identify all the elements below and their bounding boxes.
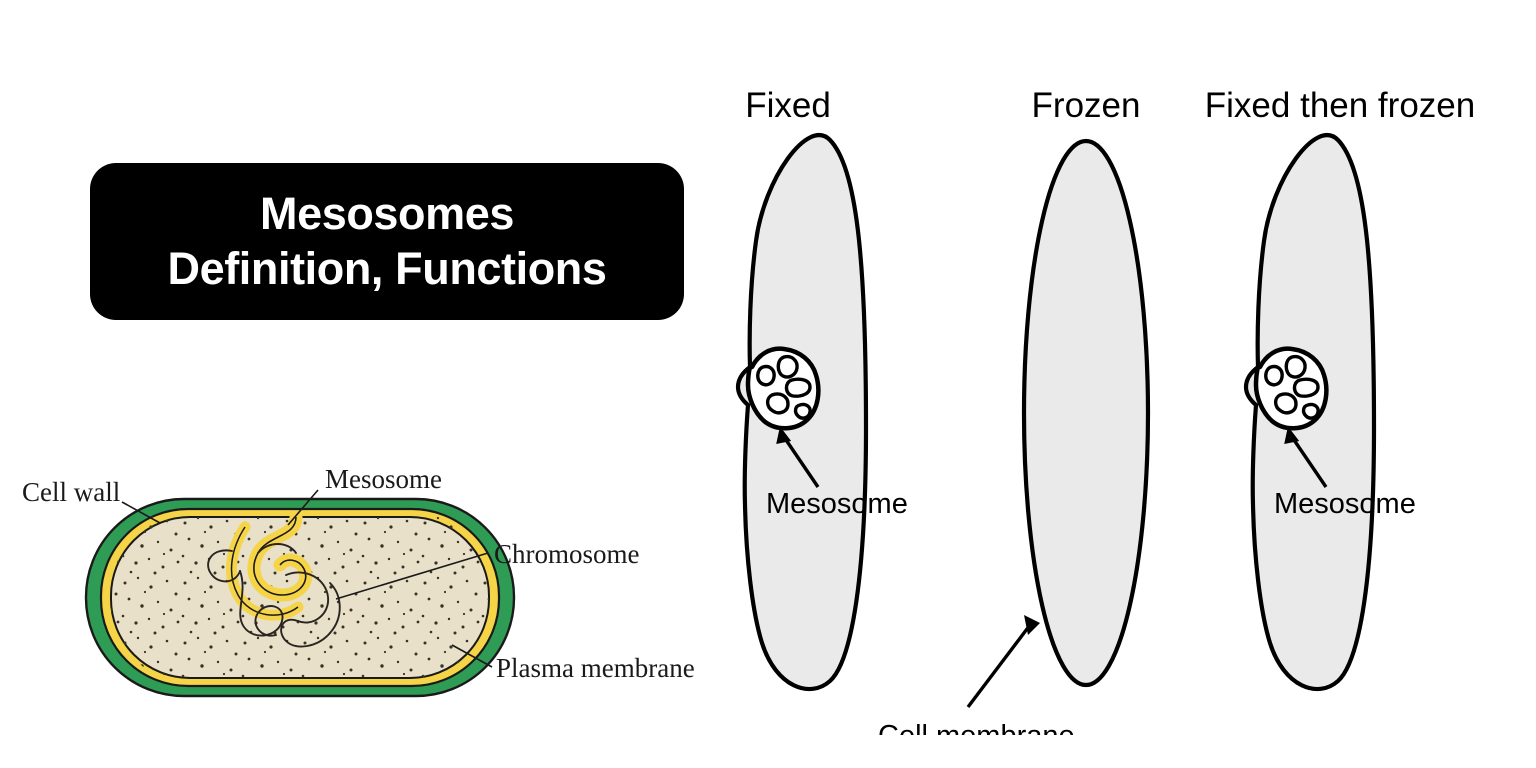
vesicle bbox=[778, 357, 797, 377]
cytoplasm-shape bbox=[111, 517, 489, 678]
vesicle bbox=[1286, 357, 1305, 377]
label-mesosome: Mesosome bbox=[325, 464, 442, 494]
label-mesosome-fixed-then-frozen: Mesosome bbox=[1274, 488, 1416, 520]
heading-fixed-then-frozen: Fixed then frozen bbox=[1205, 86, 1475, 125]
heading-frozen: Frozen bbox=[1032, 86, 1141, 125]
title-line-2: Definition, Functions bbox=[167, 242, 606, 297]
label-plasma-membrane: Plasma membrane bbox=[496, 653, 695, 683]
label-cell-membrane: Cell membrane bbox=[878, 720, 1075, 735]
title-line-1: Mesosomes bbox=[260, 187, 514, 242]
vesicle bbox=[768, 394, 788, 413]
label-chromosome: Chromosome bbox=[494, 539, 640, 569]
vesicle bbox=[1266, 367, 1282, 385]
label-mesosome-fixed: Mesosome bbox=[766, 488, 908, 520]
cells-comparison-panel: Fixed Frozen Fixed then frozen Mesosome bbox=[700, 55, 1536, 735]
vesicle bbox=[1276, 394, 1296, 413]
cell-frozen bbox=[1024, 141, 1148, 685]
vesicle bbox=[758, 367, 774, 385]
vesicle bbox=[1294, 379, 1318, 396]
heading-fixed: Fixed bbox=[745, 86, 831, 125]
label-cell-wall: Cell wall bbox=[22, 477, 120, 507]
mesosome-blob-fixed-then-frozen bbox=[1256, 349, 1326, 429]
mesosome-blob-fixed bbox=[748, 349, 818, 429]
title-banner: Mesosomes Definition, Functions bbox=[90, 163, 684, 320]
vesicle bbox=[796, 404, 811, 418]
bacterium-diagram: Cell wall Mesosome Chromosome Plasma mem… bbox=[0, 455, 740, 720]
vesicle bbox=[786, 379, 810, 396]
vesicle bbox=[1304, 404, 1319, 418]
cell-membrane-arrow bbox=[968, 615, 1040, 707]
